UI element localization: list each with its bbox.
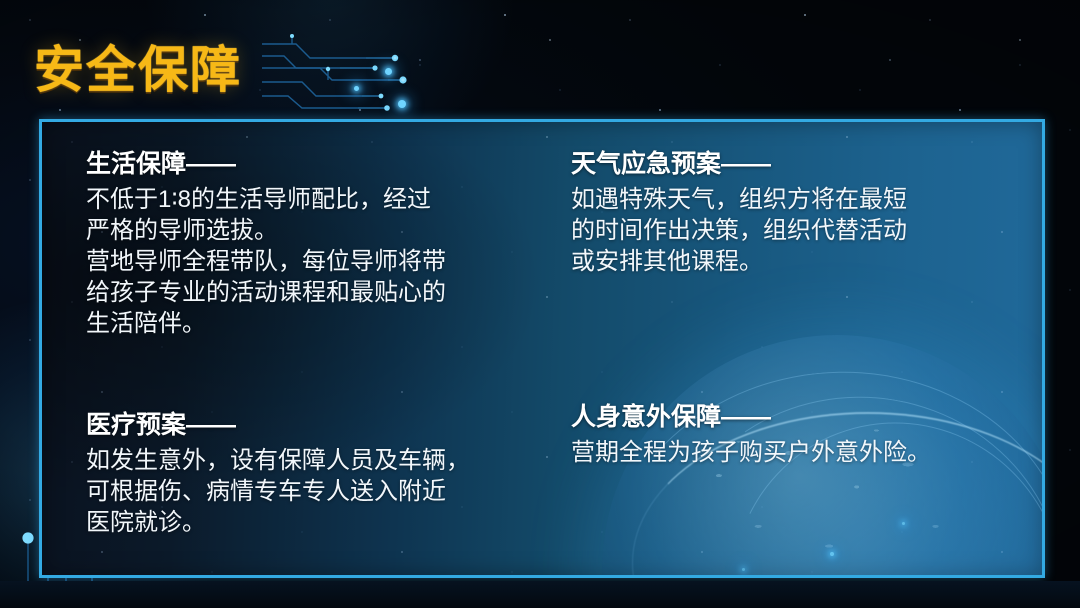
body-line: 或安排其他课程。 — [571, 246, 1016, 277]
block-body: 不低于1∶8的生活导师配比，经过 严格的导师选拔。 营地导师全程带队，每位导师将… — [86, 184, 531, 340]
body-line: 营地导师全程带队，每位导师将带 — [86, 246, 531, 277]
body-line: 给孩子专业的活动课程和最贴心的 — [86, 277, 531, 308]
body-line: 医院就诊。 — [86, 507, 531, 538]
block-medical-plan: 医疗预案—— 如发生意外，设有保障人员及车辆， 可根据伤、病情专车专人送入附近 … — [86, 411, 531, 538]
circuit-decoration-right-icon — [262, 34, 462, 118]
slide-canvas: 安全保障 — [0, 0, 1080, 608]
block-body: 如发生意外，设有保障人员及车辆， 可根据伤、病情专车专人送入附近 医院就诊。 — [86, 445, 531, 539]
body-line: 如发生意外，设有保障人员及车辆， — [86, 445, 531, 476]
body-line: 严格的导师选拔。 — [86, 215, 531, 246]
page-title: 安全保障 — [34, 45, 242, 95]
slide-title-wrap: 安全保障 — [34, 38, 242, 102]
body-line: 营期全程为孩子购买户外意外险。 — [571, 437, 1016, 468]
circuit-node-glow-c — [354, 86, 359, 91]
block-body: 营期全程为孩子购买户外意外险。 — [571, 437, 1016, 468]
body-line: 不低于1∶8的生活导师配比，经过 — [86, 184, 531, 215]
block-heading: 生活保障—— — [86, 150, 531, 180]
block-body: 如遇特殊天气，组织方将在最短 的时间作出决策，组织代替活动 或安排其他课程。 — [571, 184, 1016, 278]
body-line: 如遇特殊天气，组织方将在最短 — [571, 184, 1016, 215]
content-frame: 生活保障—— 不低于1∶8的生活导师配比，经过 严格的导师选拔。 营地导师全程带… — [39, 119, 1045, 578]
body-line: 的时间作出决策，组织代替活动 — [571, 215, 1016, 246]
column-right: 天气应急预案—— 如遇特殊天气，组织方将在最短 的时间作出决策，组织代替活动 或… — [531, 142, 1016, 557]
bottom-strip — [0, 581, 1080, 608]
body-line: 可根据伤、病情专车专人送入附近 — [86, 476, 531, 507]
block-heading: 人身意外保障—— — [571, 403, 1016, 433]
block-life-support: 生活保障—— 不低于1∶8的生活导师配比，经过 严格的导师选拔。 营地导师全程带… — [86, 150, 531, 339]
block-heading: 医疗预案—— — [86, 411, 531, 441]
column-left: 生活保障—— 不低于1∶8的生活导师配比，经过 严格的导师选拔。 营地导师全程带… — [86, 142, 531, 557]
block-weather-emergency-plan: 天气应急预案—— 如遇特殊天气，组织方将在最短 的时间作出决策，组织代替活动 或… — [571, 150, 1016, 277]
block-heading: 天气应急预案—— — [571, 150, 1016, 180]
content-columns: 生活保障—— 不低于1∶8的生活导师配比，经过 严格的导师选拔。 营地导师全程带… — [42, 122, 1042, 575]
circuit-node-glow-a — [385, 68, 392, 75]
circuit-node-glow-b — [398, 100, 406, 108]
body-line: 生活陪伴。 — [86, 308, 531, 339]
block-personal-accident-insurance: 人身意外保障—— 营期全程为孩子购买户外意外险。 — [571, 403, 1016, 468]
